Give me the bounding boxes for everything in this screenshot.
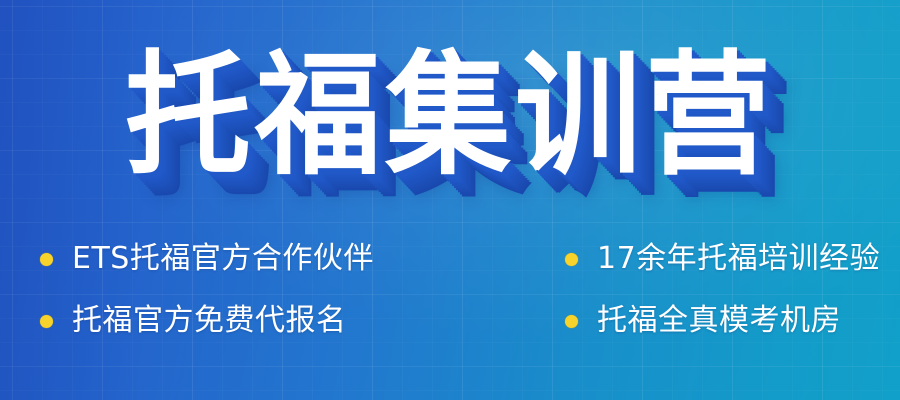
feature-list: ETS托福官方合作伙伴 17余年托福培训经验 托福官方免费代报名 托福全真模考机… xyxy=(0,228,900,352)
feature-item-experience: 17余年托福培训经验 xyxy=(450,228,870,290)
banner-headline: 托福集训营 xyxy=(125,49,775,183)
feature-label: 托福官方免费代报名 xyxy=(72,306,347,336)
feature-label: 17余年托福培训经验 xyxy=(597,244,880,274)
bullet-dot-icon xyxy=(40,253,53,266)
feature-item-ets-partner: ETS托福官方合作伙伴 xyxy=(30,228,450,290)
headline-container: 托福集训营 xyxy=(0,38,900,193)
bullet-dot-icon xyxy=(565,315,578,328)
bullet-dot-icon xyxy=(40,315,53,328)
bullet-dot-icon xyxy=(565,253,578,266)
feature-item-mock-exam-room: 托福全真模考机房 xyxy=(450,290,870,352)
feature-item-free-registration: 托福官方免费代报名 xyxy=(30,290,450,352)
feature-label: 托福全真模考机房 xyxy=(597,306,841,336)
toefl-camp-banner: 托福集训营 ETS托福官方合作伙伴 17余年托福培训经验 托福官方免费代报名 托… xyxy=(0,0,900,400)
feature-label: ETS托福官方合作伙伴 xyxy=(72,244,374,274)
